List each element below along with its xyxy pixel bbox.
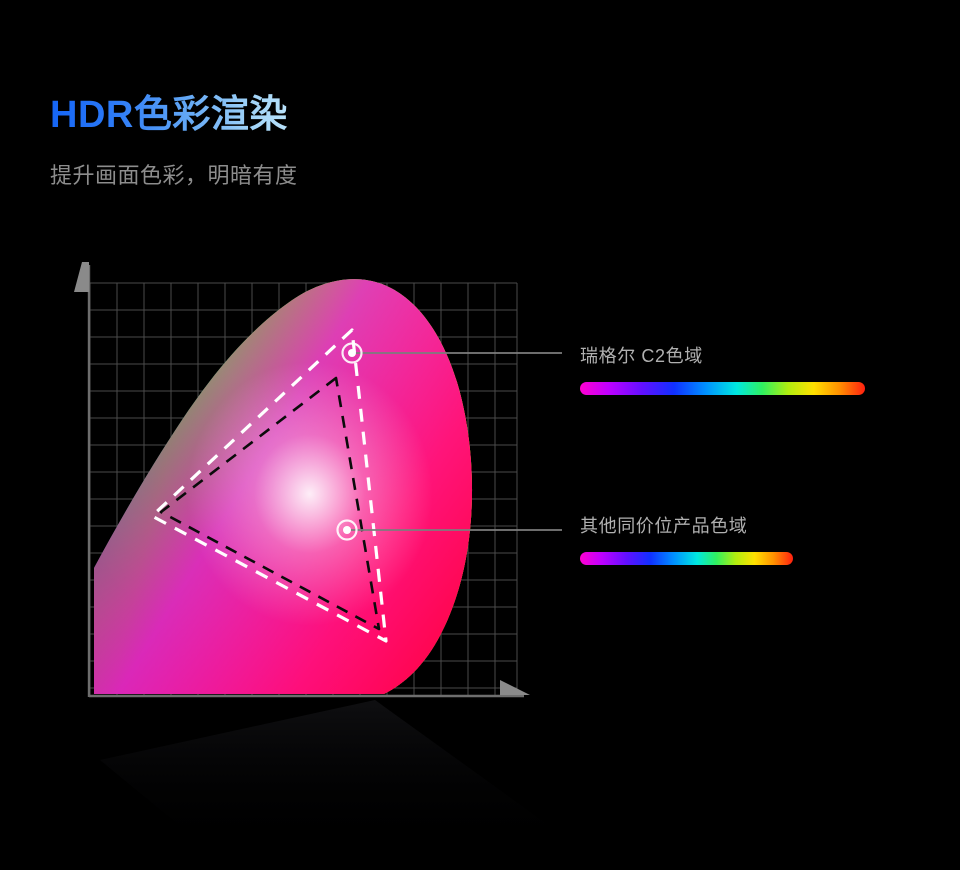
legend-label-product: 瑞格尔 C2色域 [580, 344, 865, 368]
gamut-triangle-competitor [161, 378, 379, 629]
page-subtitle: 提升画面色彩，明暗有度 [50, 160, 298, 192]
callout-marker-product [343, 344, 362, 363]
chart-axes [74, 262, 530, 697]
y-axis-arrow-icon [74, 262, 89, 292]
legend-spectrum-bar-product [580, 382, 865, 395]
x-axis-arrow-icon [500, 680, 530, 695]
chart-grid [90, 283, 517, 695]
legend-label-competitor: 其他同价位产品色域 [580, 514, 793, 538]
callout-marker-competitor [338, 521, 357, 540]
chart-reflection [100, 700, 590, 855]
legend-item-competitor: 其他同价位产品色域 [580, 514, 793, 565]
gamut-triangle-product [152, 330, 386, 641]
legend-spectrum-bar-competitor [580, 552, 793, 565]
gamut-locus [80, 265, 490, 705]
legend-item-product: 瑞格尔 C2色域 [580, 344, 865, 395]
heading-block: HDR色彩渲染 [50, 92, 288, 138]
page-root: HDR色彩渲染 提升画面色彩，明暗有度 [0, 0, 960, 870]
page-title: HDR色彩渲染 [50, 92, 288, 138]
